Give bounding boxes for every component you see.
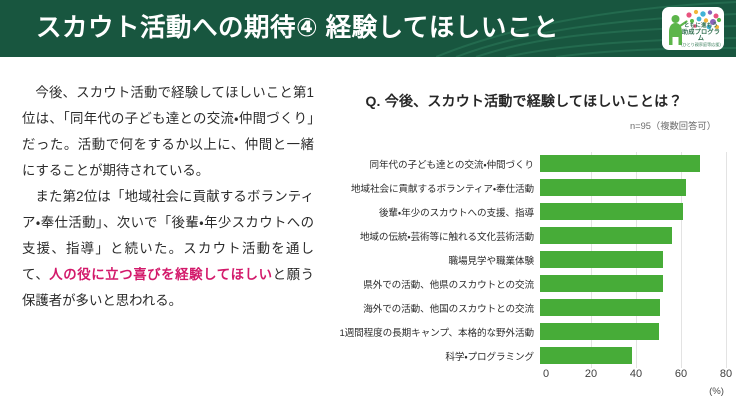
chart-plot-area: 同年代の子ども達との交流・仲間づくり地域社会に貢献するボランティア・奉仕活動後輩… (322, 152, 726, 368)
chart-bar-track (540, 320, 720, 344)
article-paragraph-2: また第2位は「地域社会に貢献するボランティア・奉仕活動」、次いで「後輩・年少スカ… (22, 184, 314, 314)
paragraph-1-text: 今後、スカウト活動で経験してほしいこと第1位は、「同年代の子ども達との交流・仲間… (22, 85, 314, 178)
chart-bar-row: 海外での活動、他国のスカウトとの交流 (322, 296, 726, 320)
chart-bar-row: 同年代の子ども達との交流・仲間づくり (322, 152, 726, 176)
chart-category-label: 地域の伝統・芸術等に触れる文化芸術活動 (322, 229, 540, 243)
chart-panel: Q. 今後、スカウト活動で経験してほしいことは？ n=95（複数回答可） 同年代… (322, 80, 726, 400)
chart-x-tick-label: 40 (630, 368, 642, 380)
chart-category-label: 後輩・年少のスカウトへの支援、指導 (322, 205, 540, 219)
logo-text: ともに進もう 助成プログラム (ひとり親家庭等応援) (679, 24, 723, 47)
chart-bar (540, 203, 683, 220)
article-paragraph-1: 今後、スカウト活動で経験してほしいこと第1位は、「同年代の子ども達との交流・仲間… (22, 80, 314, 184)
chart-x-tick-label: 80 (720, 368, 732, 380)
chart-bar (540, 251, 663, 268)
chart-category-label: 海外での活動、他国のスカウトとの交流 (322, 301, 540, 315)
chart-bar (540, 299, 660, 316)
chart-category-label: 同年代の子ども達との交流・仲間づくり (322, 157, 540, 171)
chart-bar-row: 県外での活動、他県のスカウトとの交流 (322, 272, 726, 296)
chart-bar-row: 科学・プログラミング (322, 344, 726, 368)
page-title: スカウト活動への期待④ 経験してほしいこと (36, 0, 559, 57)
chart-x-tick-label: 20 (585, 368, 597, 380)
page-header: スカウト活動への期待④ 経験してほしいこと ともに進もう (0, 0, 736, 57)
paragraph-2-highlight: 人の役に立つ喜びを経験してほしい (49, 267, 272, 282)
chart-bar (540, 155, 700, 172)
chart-category-label: 職場見学や職業体験 (322, 253, 540, 267)
chart-bar-track (540, 272, 720, 296)
chart-x-tick-label: 60 (675, 368, 687, 380)
chart-title: Q. 今後、スカウト活動で経験してほしいことは？ (322, 91, 726, 111)
chart-x-tick-label: 0 (543, 368, 549, 380)
chart-bar-row: 後輩・年少のスカウトへの支援、指導 (322, 200, 726, 224)
chart-bar-row: 1週間程度の長期キャンプ、本格的な野外活動 (322, 320, 726, 344)
chart-bar-track (540, 296, 720, 320)
chart-category-label: 1週間程度の長期キャンプ、本格的な野外活動 (322, 325, 540, 339)
chart-bar-row: 地域の伝統・芸術等に触れる文化芸術活動 (322, 224, 726, 248)
chart-gridline (726, 152, 727, 368)
chart-category-label: 県外での活動、他県のスカウトとの交流 (322, 277, 540, 291)
logo-line-3: (ひとり親家庭等応援) (679, 43, 723, 47)
chart-unit-label: (%) (322, 386, 726, 397)
chart-bar-track (540, 224, 720, 248)
chart-bar (540, 323, 659, 340)
chart-category-label: 科学・プログラミング (322, 349, 540, 363)
chart-bar (540, 227, 672, 244)
chart-bar-track (540, 344, 720, 368)
chart-category-label: 地域社会に貢献するボランティア・奉仕活動 (322, 181, 540, 195)
chart-bar-track (540, 152, 720, 176)
chart-bar-track (540, 176, 720, 200)
chart-bar (540, 347, 632, 364)
chart-bar-track (540, 248, 720, 272)
chart-bar (540, 275, 663, 292)
chart-bar-row: 地域社会に貢献するボランティア・奉仕活動 (322, 176, 726, 200)
chart-sample-size-note: n=95（複数回答可） (630, 118, 716, 132)
article-text-column: 今後、スカウト活動で経験してほしいこと第1位は、「同年代の子ども達との交流・仲間… (22, 80, 314, 314)
chart-bar-track (540, 200, 720, 224)
chart-bar-row: 職場見学や職業体験 (322, 248, 726, 272)
logo-line-2: 助成プログラム (679, 30, 723, 43)
chart-bar (540, 179, 686, 196)
program-logo: ともに進もう 助成プログラム (ひとり親家庭等応援) (662, 7, 724, 50)
chart-x-axis: 020406080 (546, 368, 726, 386)
